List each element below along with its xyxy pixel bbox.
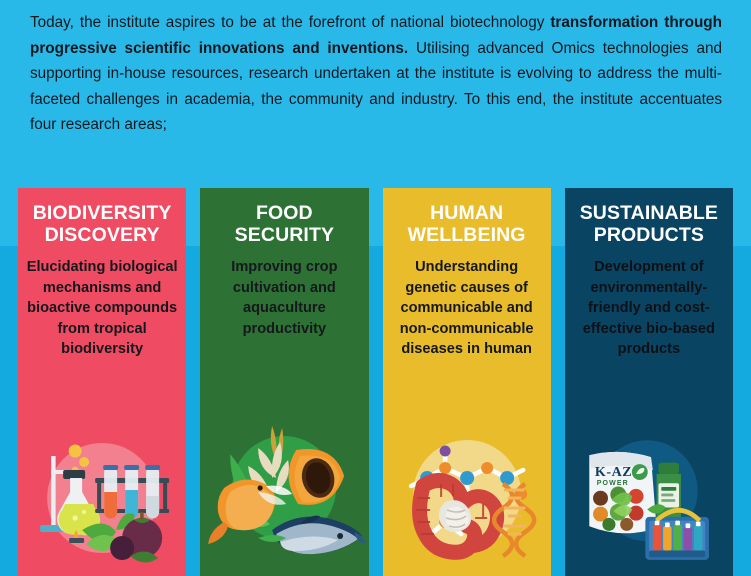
card-title: FOOD SECURITY — [200, 202, 368, 246]
card-illustration-sustainable-products: K-AZO POWER — [565, 426, 733, 576]
card-title: HUMAN WELLBEING — [383, 202, 551, 246]
research-card-food-security[interactable]: FOOD SECURITY Improving crop cultivation… — [200, 188, 368, 576]
rice-shrimp-papaya-tuna-icon — [200, 426, 368, 576]
bio-product-packages-icon: K-AZO POWER — [565, 426, 733, 576]
card-illustration-food-security — [200, 426, 368, 576]
product-brand-line2: POWER — [597, 480, 629, 487]
card-title: SUSTAINABLE PRODUCTS — [565, 202, 733, 246]
card-description: Improving crop cultivation and aquacultu… — [200, 257, 368, 339]
intestine-molecule-dna-icon — [383, 426, 551, 576]
research-card-biodiversity-discovery[interactable]: BIODIVERSITY DISCOVERY Elucidating biolo… — [18, 188, 186, 576]
research-areas-row: BIODIVERSITY DISCOVERY Elucidating biolo… — [0, 188, 751, 576]
card-illustration-biodiversity — [18, 426, 186, 576]
card-description: Elucidating biological mechanisms and bi… — [18, 257, 186, 360]
intro-paragraph: Today, the institute aspires to be at th… — [30, 10, 722, 138]
card-description: Development of environmentally-friendly … — [565, 257, 733, 360]
card-illustration-human-wellbeing — [383, 426, 551, 576]
research-card-human-wellbeing[interactable]: HUMAN WELLBEING Understanding genetic ca… — [383, 188, 551, 576]
lab-flask-test-tubes-plants-icon — [18, 426, 186, 576]
research-card-sustainable-products[interactable]: SUSTAINABLE PRODUCTS Development of envi… — [565, 188, 733, 576]
intro-line-1: Today, the institute aspires to be at th… — [30, 14, 544, 31]
card-description: Understanding genetic causes of communic… — [383, 257, 551, 360]
infographic-page: Today, the institute aspires to be at th… — [0, 0, 751, 576]
card-title: BIODIVERSITY DISCOVERY — [18, 202, 186, 246]
